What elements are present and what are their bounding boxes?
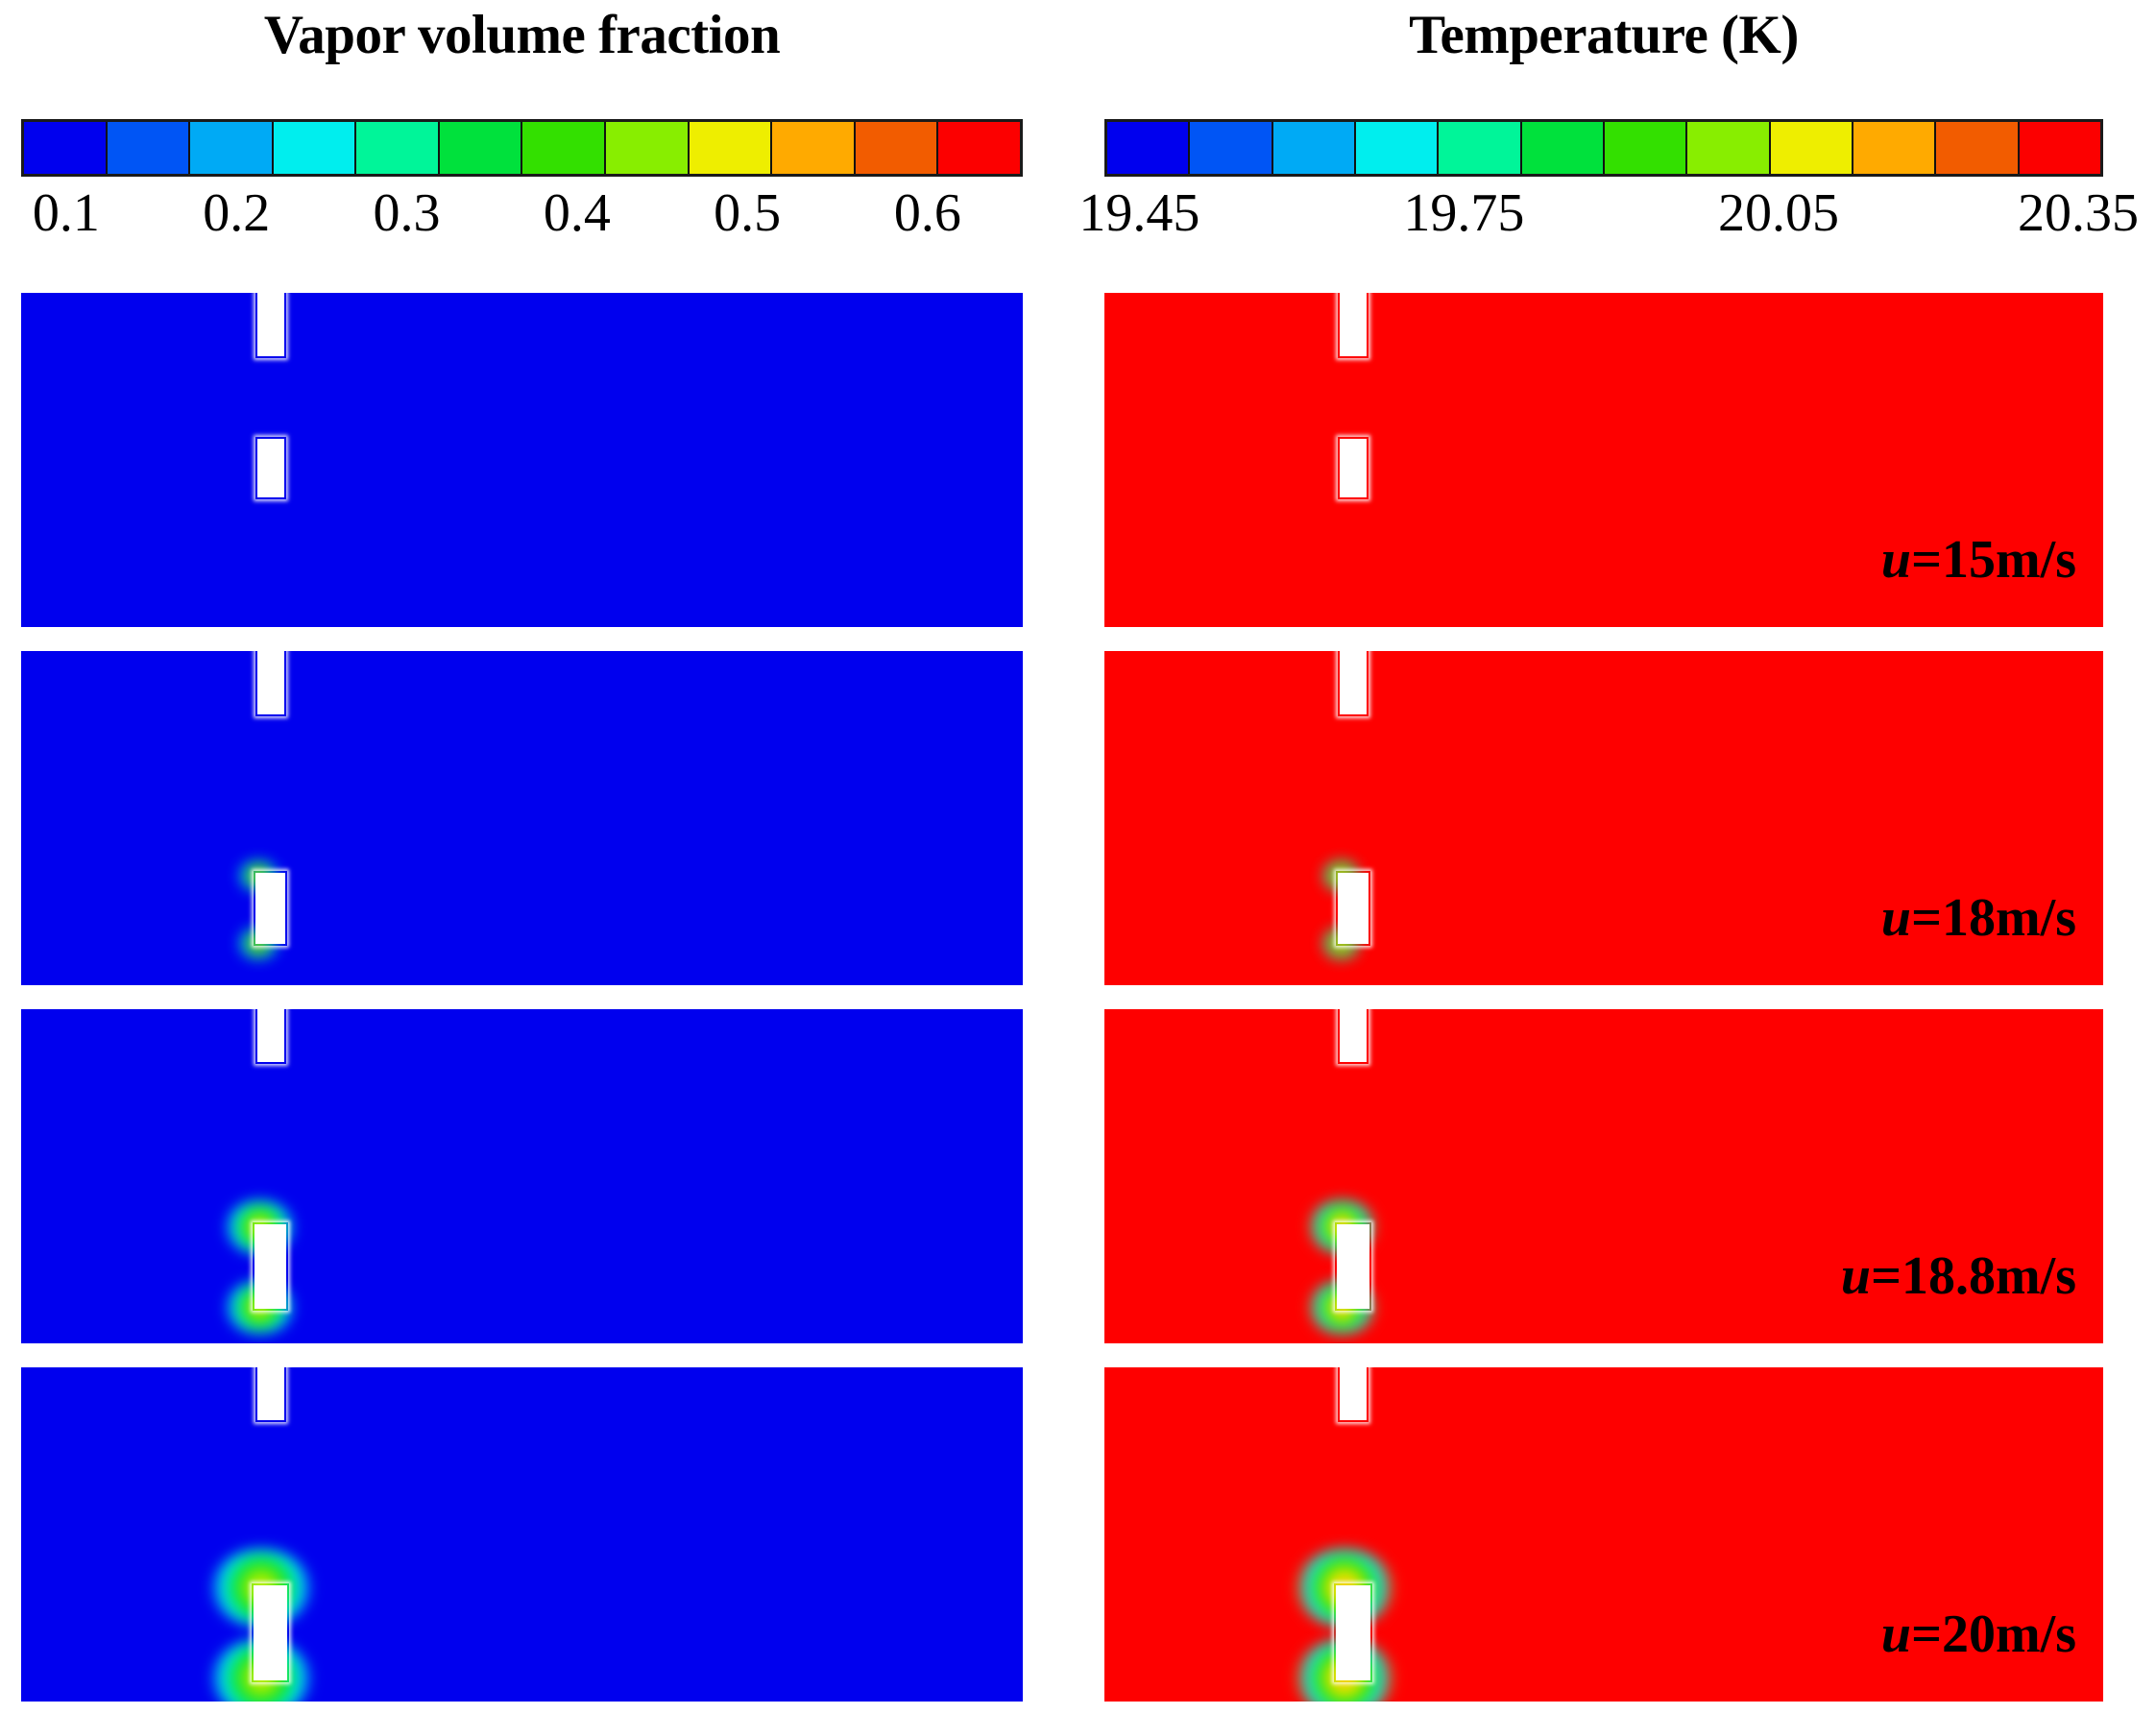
geometry-top-notch bbox=[257, 651, 284, 714]
column-title-temperature: Temperature (K) bbox=[1104, 8, 2103, 62]
contour-panel-vapor-row2 bbox=[21, 651, 1023, 985]
geometry-obstacle-block bbox=[257, 439, 284, 497]
geometry-top-notch bbox=[1340, 1009, 1367, 1062]
velocity-label-row3: u=18.8m/s bbox=[1841, 1249, 2076, 1303]
colorbar-band-vapor-10 bbox=[856, 122, 939, 174]
colorbar-tick-vapor-3: 0.4 bbox=[544, 186, 611, 240]
contour-panel-vapor-row3 bbox=[21, 1009, 1023, 1343]
colorbar-band-vapor-0 bbox=[24, 122, 108, 174]
panel-field-background bbox=[21, 293, 1023, 627]
contour-panel-temperature-row3: u=18.8m/s bbox=[1104, 1009, 2103, 1343]
geometry-top-notch bbox=[1340, 293, 1367, 356]
geometry-top-notch bbox=[257, 293, 284, 356]
colorbar-band-temperature-1 bbox=[1190, 122, 1272, 174]
figure-root: Vapor volume fraction Temperature (K) 0.… bbox=[0, 0, 2156, 1714]
colorbar-band-temperature-9 bbox=[1853, 122, 1936, 174]
panel-field-background bbox=[21, 651, 1023, 985]
geometry-obstacle-block bbox=[1336, 1585, 1369, 1680]
geometry-top-notch bbox=[257, 1367, 284, 1420]
colorbar-band-vapor-4 bbox=[356, 122, 440, 174]
colorbar-band-temperature-2 bbox=[1273, 122, 1356, 174]
colorbar-tick-vapor-5: 0.6 bbox=[894, 186, 961, 240]
geometry-obstacle-block bbox=[1340, 439, 1367, 497]
colorbar-tick-temperature-2: 20.05 bbox=[1718, 186, 1839, 240]
colorbar-band-vapor-6 bbox=[522, 122, 606, 174]
velocity-label-row2: u=18m/s bbox=[1881, 891, 2076, 945]
geometry-obstacle-block bbox=[254, 1585, 287, 1680]
velocity-value: =18.8m/s bbox=[1871, 1246, 2076, 1306]
contour-panel-vapor-row1 bbox=[21, 293, 1023, 627]
colorbar-band-vapor-3 bbox=[274, 122, 357, 174]
velocity-symbol: u bbox=[1881, 888, 1911, 948]
colorbar-band-vapor-2 bbox=[190, 122, 274, 174]
colorbar-ticks-vapor: 0.10.20.30.40.50.6 bbox=[21, 186, 1023, 246]
colorbar-tick-vapor-1: 0.2 bbox=[203, 186, 270, 240]
colorbar-band-vapor-11 bbox=[938, 122, 1020, 174]
colorbar-tick-vapor-2: 0.3 bbox=[374, 186, 441, 240]
velocity-label-row4: u=20m/s bbox=[1881, 1607, 2076, 1661]
velocity-symbol: u bbox=[1841, 1246, 1871, 1306]
geometry-obstacle-block bbox=[255, 873, 285, 945]
colorbar-band-vapor-8 bbox=[690, 122, 773, 174]
colorbar-band-temperature-11 bbox=[2020, 122, 2100, 174]
colorbar-tick-temperature-3: 20.35 bbox=[2018, 186, 2139, 240]
column-title-vapor: Vapor volume fraction bbox=[21, 8, 1023, 62]
velocity-value: =18m/s bbox=[1911, 888, 2076, 948]
geometry-obstacle-block bbox=[1337, 1224, 1369, 1310]
colorbar-band-temperature-8 bbox=[1771, 122, 1853, 174]
colorbar-band-temperature-4 bbox=[1439, 122, 1521, 174]
colorbar-band-temperature-7 bbox=[1687, 122, 1770, 174]
velocity-symbol: u bbox=[1881, 1605, 1911, 1664]
velocity-label-row1: u=15m/s bbox=[1881, 533, 2076, 587]
colorbar-band-temperature-10 bbox=[1936, 122, 2019, 174]
contour-panel-vapor-row4 bbox=[21, 1367, 1023, 1702]
panel-field-background bbox=[21, 1009, 1023, 1343]
velocity-value: =15m/s bbox=[1911, 530, 2076, 590]
colorbar-tick-vapor-4: 0.5 bbox=[714, 186, 781, 240]
geometry-obstacle-block bbox=[254, 1224, 286, 1310]
panel-field-background bbox=[21, 1367, 1023, 1702]
colorbar-tick-temperature-0: 19.45 bbox=[1078, 186, 1199, 240]
geometry-top-notch bbox=[1340, 1367, 1367, 1420]
colorbar-band-vapor-1 bbox=[108, 122, 191, 174]
colorbar-tick-vapor-0: 0.1 bbox=[33, 186, 100, 240]
colorbar-ticks-temperature: 19.4519.7520.0520.35 bbox=[1104, 186, 2103, 246]
colorbar-band-temperature-0 bbox=[1107, 122, 1190, 174]
colorbar-band-temperature-6 bbox=[1605, 122, 1687, 174]
geometry-obstacle-block bbox=[1338, 873, 1368, 945]
contour-panel-temperature-row4: u=20m/s bbox=[1104, 1367, 2103, 1702]
colorbar-band-temperature-5 bbox=[1522, 122, 1605, 174]
colorbar-band-vapor-9 bbox=[772, 122, 856, 174]
contour-panel-temperature-row1: u=15m/s bbox=[1104, 293, 2103, 627]
colorbar-band-temperature-3 bbox=[1356, 122, 1439, 174]
contour-panel-temperature-row2: u=18m/s bbox=[1104, 651, 2103, 985]
colorbar-temperature bbox=[1104, 119, 2103, 177]
velocity-value: =20m/s bbox=[1911, 1605, 2076, 1664]
colorbar-vapor bbox=[21, 119, 1023, 177]
geometry-top-notch bbox=[257, 1009, 284, 1062]
geometry-top-notch bbox=[1340, 651, 1367, 714]
colorbar-band-vapor-5 bbox=[440, 122, 523, 174]
colorbar-band-vapor-7 bbox=[606, 122, 690, 174]
velocity-symbol: u bbox=[1881, 530, 1911, 590]
colorbar-tick-temperature-1: 19.75 bbox=[1403, 186, 1524, 240]
